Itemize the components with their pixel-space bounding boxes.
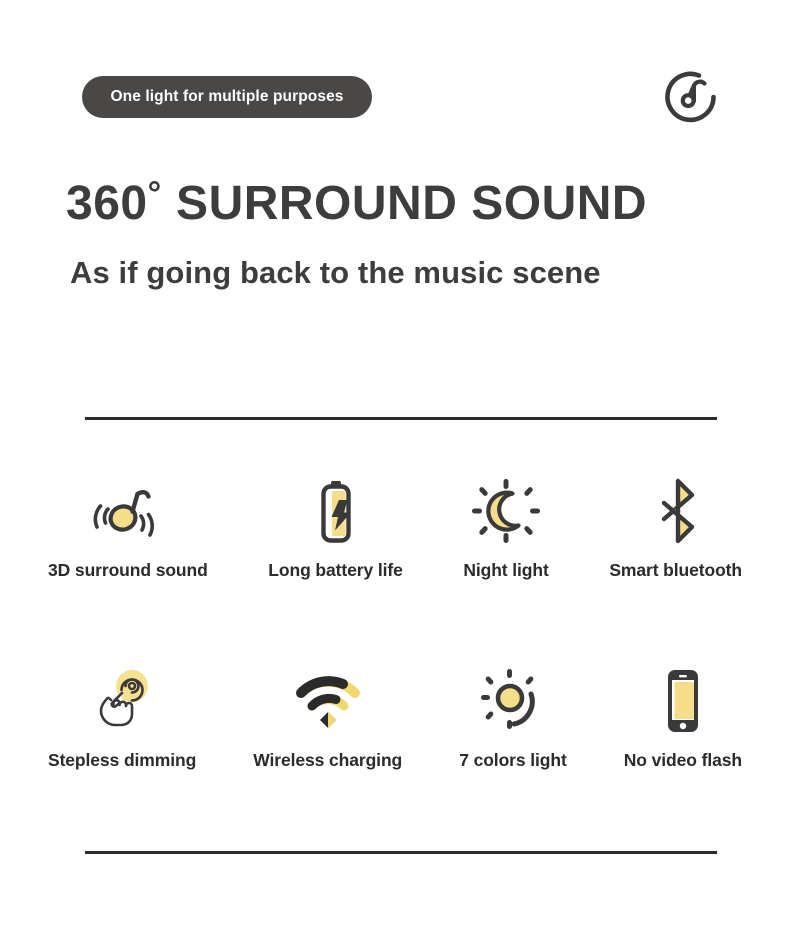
page-subheadline: As if going back to the music scene bbox=[70, 255, 730, 291]
feature-stepless-dimming: Stepless dimming bbox=[48, 668, 196, 771]
headline-number: 360 bbox=[66, 177, 148, 230]
feature-night-light: Night light bbox=[463, 478, 548, 581]
feature-7-colors-light: 7 colors light bbox=[459, 668, 567, 771]
feature-no-video-flash: No video flash bbox=[624, 668, 742, 771]
feature-label: Stepless dimming bbox=[48, 750, 196, 771]
headline-text: SURROUND SOUND bbox=[176, 177, 647, 230]
feature-label: Smart bluetooth bbox=[609, 560, 742, 581]
divider-top bbox=[85, 417, 717, 420]
feature-row-2: Stepless dimming Wireless charging bbox=[48, 668, 742, 771]
stepless-dimming-touch-icon bbox=[89, 668, 155, 734]
feature-smart-bluetooth: Smart bluetooth bbox=[609, 478, 742, 581]
wireless-charging-signal-icon bbox=[293, 668, 363, 734]
feature-long-battery-life: Long battery life bbox=[268, 478, 402, 581]
tagline-badge: One light for multiple purposes bbox=[82, 76, 372, 118]
feature-row-1: 3D surround sound Long battery life bbox=[48, 478, 742, 581]
feature-label: Long battery life bbox=[268, 560, 402, 581]
feature-label: Wireless charging bbox=[253, 750, 402, 771]
feature-label: 7 colors light bbox=[459, 750, 567, 771]
divider-bottom bbox=[85, 851, 717, 854]
no-video-flash-phone-icon bbox=[659, 668, 707, 734]
surround-sound-note-icon bbox=[85, 478, 171, 544]
battery-charging-icon bbox=[310, 478, 362, 544]
feature-wireless-charging: Wireless charging bbox=[253, 668, 402, 771]
page-headline: 360° SURROUND SOUND bbox=[66, 177, 726, 229]
tagline-badge-label: One light for multiple purposes bbox=[110, 88, 343, 106]
bluetooth-icon bbox=[648, 478, 704, 544]
seven-colors-sun-icon bbox=[479, 668, 547, 734]
circle-music-note-logo-icon bbox=[655, 62, 725, 132]
feature-label: 3D surround sound bbox=[48, 560, 208, 581]
feature-label: Night light bbox=[463, 560, 548, 581]
night-light-moon-icon bbox=[471, 478, 541, 544]
feature-label: No video flash bbox=[624, 750, 742, 771]
feature-3d-surround-sound: 3D surround sound bbox=[48, 478, 208, 581]
headline-degree-symbol: ° bbox=[148, 175, 163, 213]
